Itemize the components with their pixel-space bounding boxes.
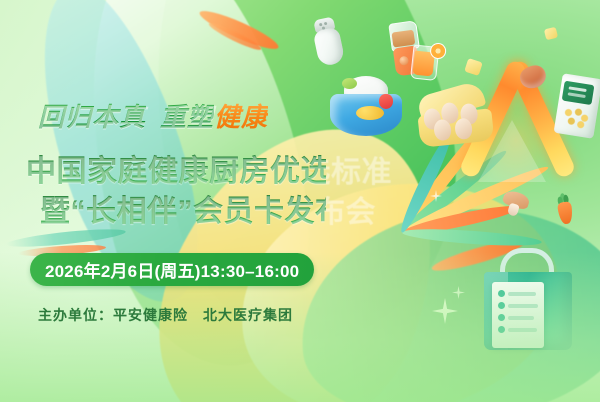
date-time-badge: 2026年2月6日(周五)13:30–16:00: [30, 253, 314, 286]
slogan-green-part-2: 重塑: [160, 102, 214, 132]
rice-bowl-icon: [330, 76, 402, 138]
promo-banner: 回归本真重塑健康 中国家庭健康厨房优选标准 暨“长相伴”会员卡发布会 2026年…: [0, 0, 600, 402]
carrot-icon: [552, 195, 578, 226]
title-line-2: 暨“长相伴”会员卡发布会: [26, 192, 326, 232]
egg-carton-icon: [415, 84, 497, 154]
title-line-1: 中国家庭健康厨房优选标准: [26, 152, 326, 192]
slogan: 回归本真重塑健康: [38, 104, 268, 130]
slogan-green-part: 回归本真: [38, 102, 146, 132]
orange-juice-glass-icon: [410, 40, 446, 81]
supplement-pack-icon: [554, 73, 600, 139]
page-title: 中国家庭健康厨房优选标准 暨“长相伴”会员卡发布会: [26, 152, 326, 232]
organizer-line: 主办单位：平安健康险 北大医疗集团: [38, 305, 293, 325]
slogan-orange-part: 健康: [214, 102, 268, 132]
text-content-block: 回归本真重塑健康 中国家庭健康厨房优选标准 暨“长相伴”会员卡发布会 2026年…: [0, 0, 330, 402]
